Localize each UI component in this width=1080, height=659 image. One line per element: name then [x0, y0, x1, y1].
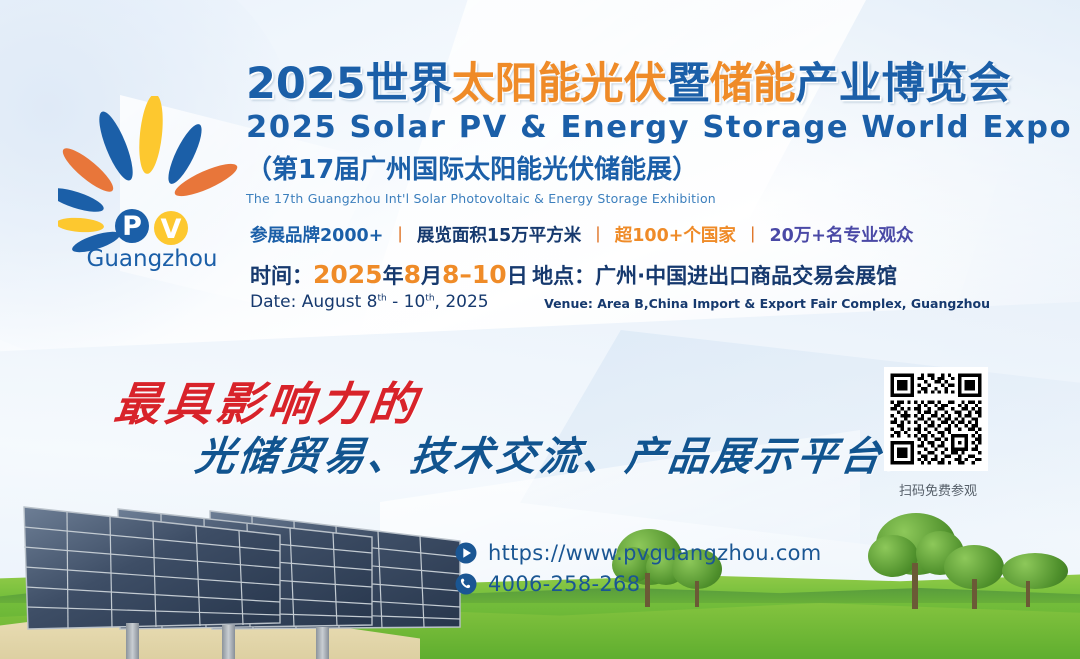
stat-separator: 丨 [744, 226, 762, 246]
stat-item-countries: 超100+个国家 [615, 226, 736, 246]
date-venue-block: 时间：2025年8月8–10日 Date: August 8th - 10th,… [250, 260, 990, 312]
date-cn: 时间：2025年8月8–10日 [250, 260, 532, 290]
date-year: 2025 [313, 260, 383, 289]
pv-guangzhou-logo: P V Guangzhou [58, 96, 243, 276]
tree [1002, 549, 1068, 607]
qr-code-image[interactable] [884, 367, 988, 471]
subtitle-cn: （第17届广州国际太阳能光伏储能展） [246, 149, 1036, 186]
title-seg-4: 储能 [710, 59, 796, 109]
solar-panel-array [0, 479, 470, 659]
venue-block: 地点：广州·中国进出口商品交易会展馆 Venue: Area B,China I… [532, 260, 990, 312]
date-en-prefix: Date: August 8 [250, 292, 377, 312]
svg-text:V: V [161, 214, 182, 245]
play-circle-icon [455, 542, 477, 564]
title-seg-3: 暨 [667, 59, 710, 109]
date-month-unit: 月 [421, 264, 442, 288]
qr-code-block: 扫码免费参观 [884, 367, 992, 499]
logo-pv-letters: P V [115, 209, 188, 245]
stat-item-visitors: 20万+名专业观众 [769, 226, 913, 246]
tree [944, 539, 1004, 609]
stat-item-area: 展览面积15万平方米 [417, 226, 581, 246]
venue-en: Venue: Area B,China Import & Export Fair… [544, 296, 990, 311]
venue-cn: 地点：广州·中国进出口商品交易会展馆 [532, 260, 990, 290]
date-block: 时间：2025年8月8–10日 Date: August 8th - 10th,… [250, 260, 532, 312]
logo-city-label: Guangzhou [87, 246, 218, 272]
svg-text:P: P [122, 211, 142, 242]
phone-number[interactable]: 4006-258-268 [488, 572, 640, 596]
contact-block: https://www.pvguangzhou.com 4006-258-268 [455, 541, 822, 603]
headline-block: 2025世界太阳能光伏暨储能产业博览会 2025 Solar PV & Ener… [246, 62, 1036, 206]
date-day-unit: 日 [507, 264, 528, 288]
date-en-suffix: , 2025 [435, 292, 489, 312]
title-seg-2: 太阳能光伏 [452, 59, 667, 109]
date-month: 8 [404, 260, 421, 289]
date-label: 时间： [250, 264, 313, 288]
website-row[interactable]: https://www.pvguangzhou.com [455, 541, 822, 565]
statistics-strip: 参展品牌2000+丨展览面积15万平方米丨超100+个国家丨20万+名专业观众 [250, 222, 913, 247]
date-en-sup1: th [377, 293, 386, 303]
stat-item-brands: 参展品牌2000+ [250, 226, 383, 246]
title-seg-5: 产业博览会 [796, 59, 1011, 109]
phone-circle-icon [455, 573, 477, 595]
qr-caption: 扫码免费参观 [884, 480, 992, 499]
date-en-sup2: th [425, 293, 434, 303]
date-year-unit: 年 [383, 264, 404, 288]
subtitle-en: The 17th Guangzhou Int'l Solar Photovolt… [246, 191, 1036, 206]
venue-name-cn: 广州·中国进出口商品交易会展馆 [595, 264, 897, 288]
date-en: Date: August 8th - 10th, 2025 [250, 292, 532, 312]
date-days: 8–10 [442, 260, 507, 289]
stat-separator: 丨 [589, 226, 607, 246]
title-seg-1: 2025世界 [246, 59, 452, 109]
expo-poster: P V Guangzhou 2025世界太阳能光伏暨储能产业博览会 2025 S… [0, 0, 1080, 659]
website-url[interactable]: https://www.pvguangzhou.com [488, 541, 822, 565]
date-en-mid: - 10 [387, 292, 426, 312]
main-title-cn: 2025世界太阳能光伏暨储能产业博览会 [246, 62, 1036, 107]
main-title-en: 2025 Solar PV & Energy Storage World Exp… [246, 110, 1036, 145]
venue-label: 地点： [532, 264, 595, 288]
stat-separator: 丨 [391, 226, 409, 246]
logo-sunburst [58, 96, 241, 256]
phone-row[interactable]: 4006-258-268 [455, 572, 822, 596]
slogan-line-2: 光储贸易、技术交流、产品展示平台! [192, 424, 908, 482]
